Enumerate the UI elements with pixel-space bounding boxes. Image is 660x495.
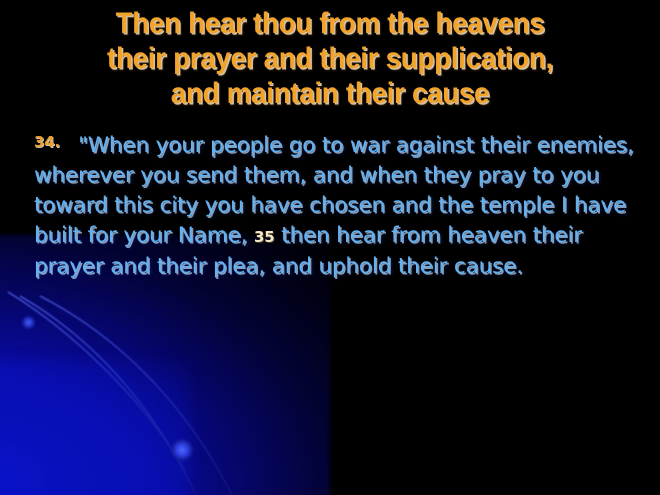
presentation-slide: Then hear thou from the heavens their pr…: [0, 0, 660, 495]
verse-number-35: 35: [254, 228, 274, 246]
verse-paragraph: "When your people go to war against thei…: [34, 131, 638, 282]
background-arc-2: [20, 296, 196, 495]
title-block: Then hear thou from the heavens their pr…: [0, 0, 660, 111]
large-glow-dot: [171, 439, 193, 461]
background-blue-glow-core: [0, 360, 190, 495]
slide-title: Then hear thou from the heavens their pr…: [44, 6, 616, 111]
slide-content: Then hear thou from the heavens their pr…: [0, 0, 660, 282]
verse-number-34: 34.: [34, 135, 60, 150]
small-glow-dot: [22, 316, 35, 329]
background-arc-1: [8, 292, 185, 470]
body-block: 34. "When your people go to war against …: [0, 131, 660, 282]
background-arc-3: [40, 296, 232, 495]
